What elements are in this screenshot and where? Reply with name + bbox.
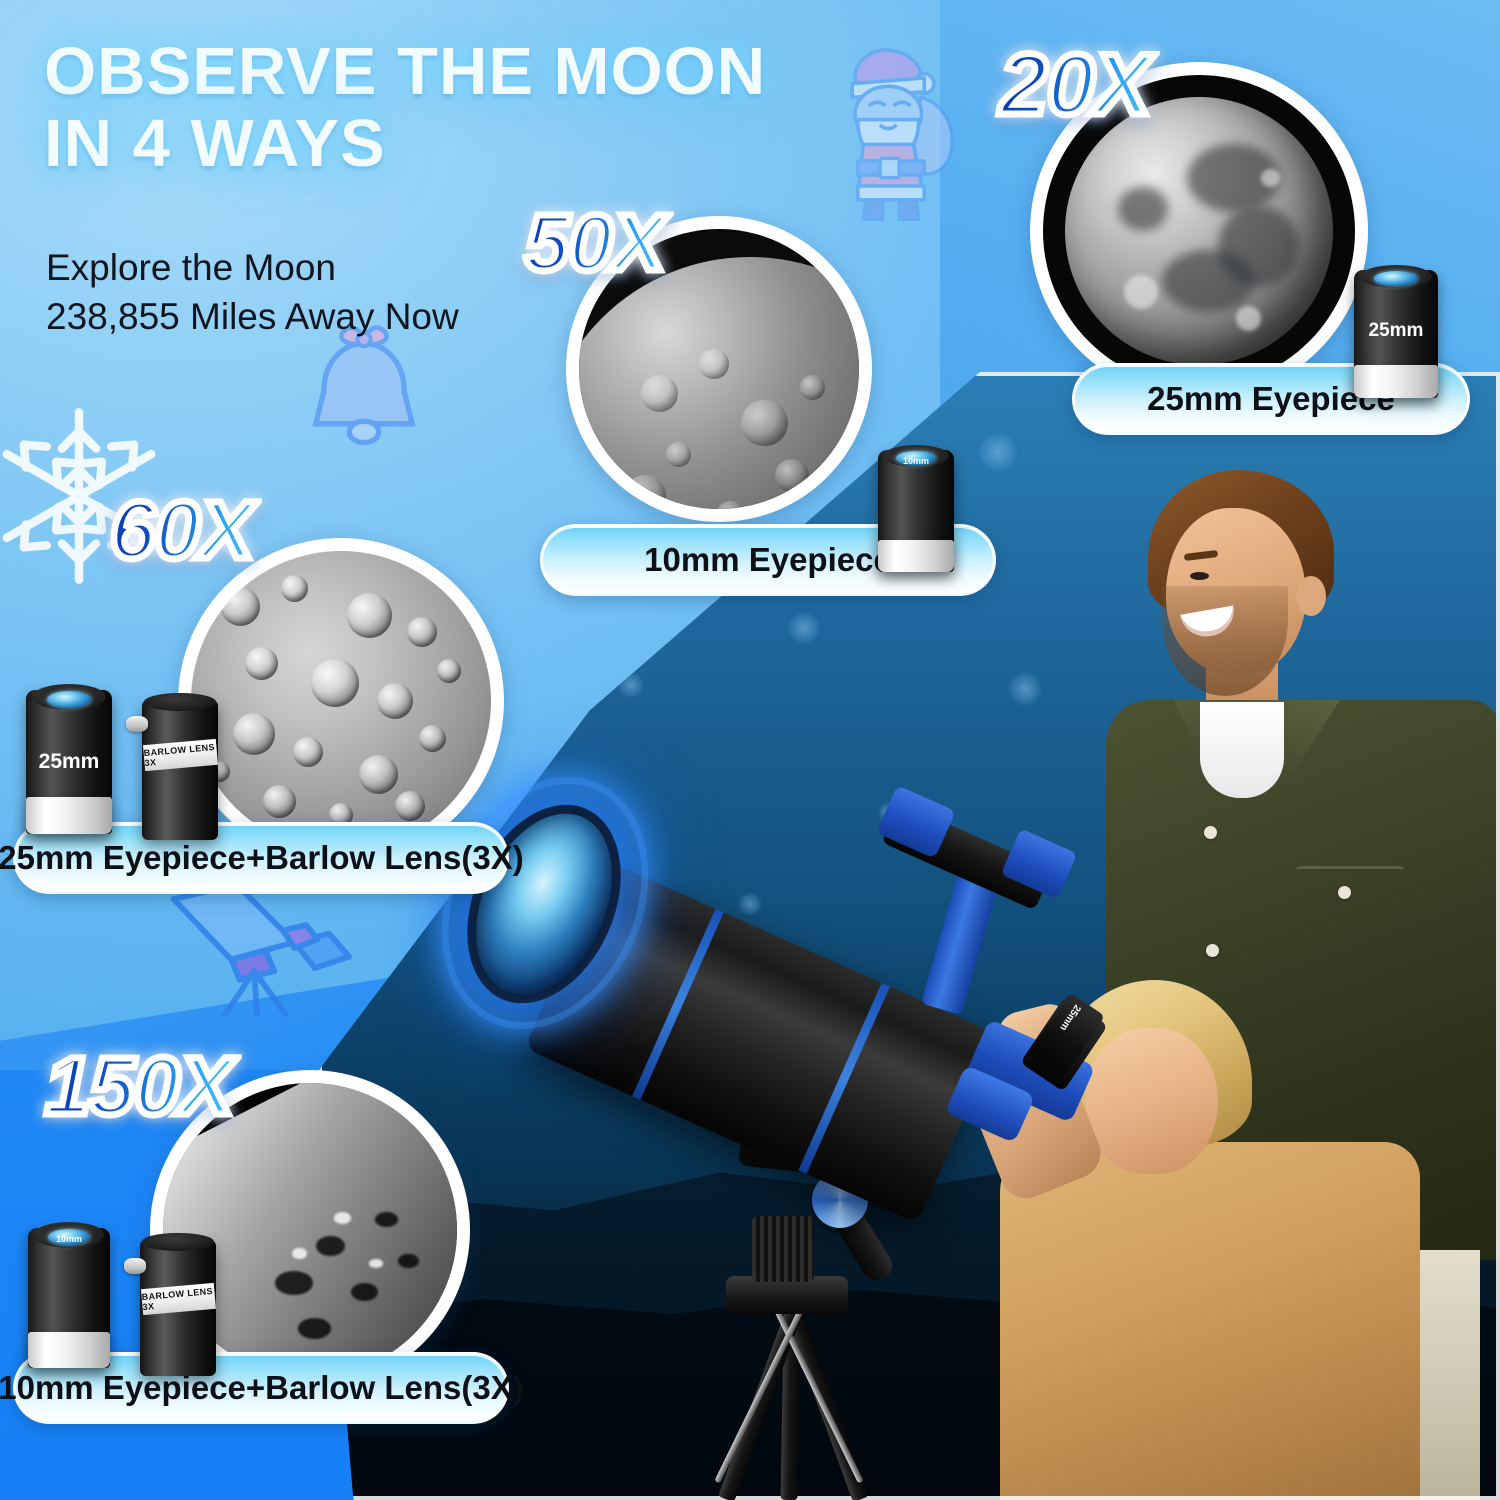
moon-crater — [437, 659, 461, 683]
moon-crater — [419, 725, 446, 752]
eyepiece-marking: 10mm — [878, 456, 954, 466]
moon-crater — [221, 587, 260, 626]
pocket-button — [1338, 886, 1351, 899]
moon-crater — [666, 442, 691, 467]
tube-ring — [798, 983, 890, 1174]
eyepiece-barrel — [28, 1332, 110, 1368]
magnification-badge-20x: 20X — [1000, 36, 1150, 135]
eyepiece-marking: 25mm — [1354, 320, 1438, 342]
barlow-marking: BARLOW LENS 3X — [143, 742, 217, 768]
promo-banner: 25mm — [0, 0, 1500, 1500]
moon-crater — [281, 575, 308, 602]
barlow-lens-150x: BARLOW LENS 3X — [140, 1240, 216, 1376]
eyepiece-10mm-50x: 10mm — [878, 450, 954, 572]
moon-crater — [624, 475, 666, 509]
config-label-text: 10mm Eyepiece+Barlow Lens(3X) — [0, 1369, 554, 1407]
eyepiece-25mm-20x: 25mm — [1354, 270, 1438, 398]
barlow-marking: BARLOW LENS 3X — [141, 1286, 215, 1312]
moon-mare — [1118, 187, 1168, 231]
moon-rock — [298, 1318, 330, 1339]
barlow-thumbscrew — [124, 1258, 146, 1274]
moon-crater — [716, 501, 745, 509]
barlow-thumbscrew — [126, 716, 148, 732]
moon-rock — [351, 1283, 377, 1301]
magnification-badge-150x: 150X — [45, 1040, 233, 1134]
moon-crater — [245, 647, 278, 680]
eyepiece-marking: 10mm — [28, 1234, 110, 1244]
title-line-1: OBSERVE THE MOON — [44, 36, 904, 108]
moon-crater — [359, 755, 398, 794]
moon-crater — [699, 349, 728, 378]
title-line-2: IN 4 WAYS — [44, 108, 904, 180]
moon-highlight — [334, 1212, 352, 1224]
man-ear — [1296, 576, 1326, 616]
moon-crater — [377, 683, 413, 719]
shirt-button — [1206, 944, 1219, 957]
moon-rock — [398, 1254, 419, 1269]
tube-ring — [632, 909, 724, 1100]
moon-rock — [375, 1212, 399, 1227]
moon-crater — [311, 659, 359, 707]
moon-crater — [263, 785, 296, 818]
boy-shirt — [1000, 1142, 1420, 1500]
magnification-badge-60x: 60X — [110, 484, 253, 578]
moon-crater — [233, 713, 275, 755]
config-label-text: 25mm Eyepiece+Barlow Lens(3X) — [0, 839, 554, 877]
eyepiece-lens — [1374, 271, 1418, 286]
moon-crater — [293, 737, 323, 767]
boy-face — [1086, 1028, 1218, 1174]
moon-rock — [275, 1271, 313, 1295]
moon-preview-60x — [178, 538, 504, 864]
config-label-text: 10mm Eyepiece — [614, 541, 922, 579]
moon-crater — [775, 459, 809, 493]
eyepiece-barrel — [1354, 365, 1438, 398]
man-undershirt — [1200, 702, 1284, 798]
moon-crater — [800, 375, 825, 400]
page-title: OBSERVE THE MOON IN 4 WAYS — [44, 36, 904, 181]
moon-mare — [1162, 250, 1256, 312]
moon-crater — [741, 400, 787, 446]
moon-crater — [395, 791, 425, 821]
eyepiece-lens — [47, 691, 92, 708]
eyepiece-25mm-60x: 25mm — [26, 690, 112, 834]
moon-surface — [579, 257, 859, 509]
barlow-lens-60x: BARLOW LENS 3X — [142, 700, 218, 840]
moon-crater — [347, 593, 392, 638]
moon-image-60x — [191, 551, 491, 851]
eyepiece-marking: 25mm — [26, 750, 112, 774]
shirt-button — [1204, 826, 1217, 839]
man-eye — [1190, 572, 1209, 580]
moon-crater — [641, 375, 679, 413]
eyepiece-10mm-150x: 10mm — [28, 1228, 110, 1368]
eyepiece-barrel — [26, 797, 112, 834]
moon-crater — [407, 617, 437, 647]
magnification-badge-50x: 50X — [525, 197, 664, 289]
eyepiece-barrel — [878, 540, 954, 572]
barlow-top — [142, 1233, 215, 1251]
man-shirt-pocket — [1296, 866, 1404, 949]
tripod-column — [752, 1216, 814, 1282]
